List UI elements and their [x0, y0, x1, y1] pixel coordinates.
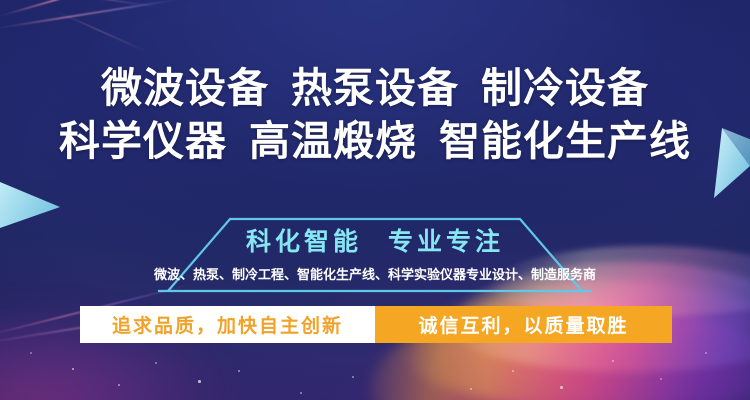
subtitle-text: 微波、热泵、制冷工程、智能化生产线、科学实验仪器专业设计、制造服务商 — [0, 264, 750, 283]
promo-banner: 微波设备热泵设备制冷设备 科学仪器高温煅烧智能化生产线 科化智能专业专注 微波、… — [0, 0, 750, 400]
headline-block: 微波设备热泵设备制冷设备 科学仪器高温煅烧智能化生产线 — [0, 62, 750, 168]
slogan-part-2: 专业专注 — [388, 228, 504, 256]
headline-item-3: 制冷设备 — [481, 65, 649, 111]
slogan-text: 科化智能专业专注 — [0, 222, 750, 258]
cta-button-row: 追求品质，加快自主创新 诚信互利，以质量取胜 — [80, 306, 672, 343]
headline-item-5: 高温煅烧 — [249, 118, 417, 164]
headline-item-4: 科学仪器 — [59, 118, 227, 164]
headline-item-2: 热泵设备 — [291, 65, 459, 111]
integrity-slogan-button[interactable]: 诚信互利，以质量取胜 — [375, 306, 672, 343]
headline-line-1: 微波设备热泵设备制冷设备 — [0, 62, 750, 115]
headline-item-6: 智能化生产线 — [439, 118, 691, 164]
headline-line-2: 科学仪器高温煅烧智能化生产线 — [0, 115, 750, 168]
slogan-part-1: 科化智能 — [246, 228, 362, 256]
quality-slogan-button[interactable]: 追求品质，加快自主创新 — [80, 306, 375, 343]
headline-item-1: 微波设备 — [101, 65, 269, 111]
